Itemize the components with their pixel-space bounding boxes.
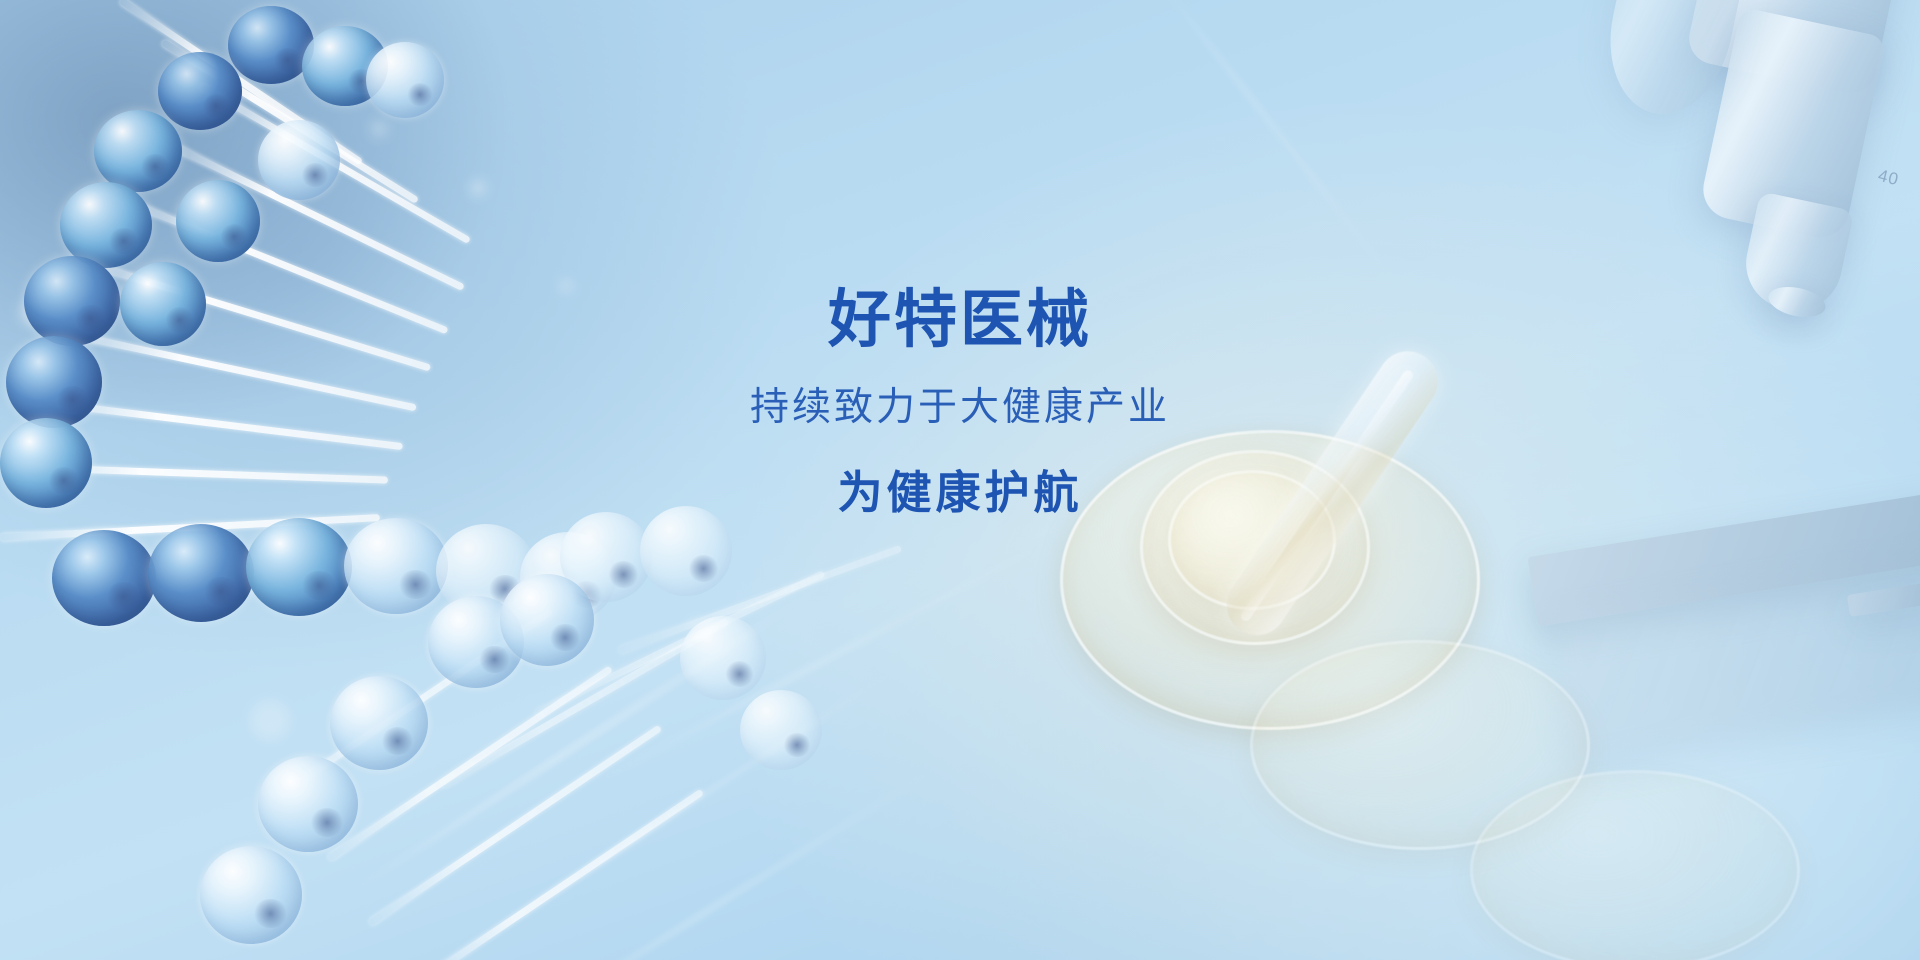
dna-node: [228, 6, 314, 84]
dna-node: [344, 518, 448, 614]
dna-node: [148, 524, 254, 622]
bokeh-dot: [470, 180, 486, 196]
dna-node: [52, 530, 156, 626]
dna-node: [176, 180, 260, 262]
dna-node: [330, 676, 428, 770]
hero-subtitle: 持续致力于大健康产业: [0, 385, 1920, 432]
bokeh-dot: [370, 120, 388, 138]
dna-node: [258, 756, 358, 852]
glass-bowl-right: [1470, 770, 1800, 960]
dna-node: [258, 120, 340, 200]
light-streak: [1139, 0, 1402, 290]
dna-node: [366, 42, 444, 118]
dna-node: [94, 110, 182, 192]
hero-banner: 40: [0, 0, 1920, 960]
dna-rung: [410, 789, 704, 960]
bokeh-dot: [250, 700, 290, 740]
microscope-magnification-label: 40: [1876, 166, 1901, 190]
hero-tagline: 为健康护航: [0, 466, 1920, 520]
light-streak: [424, 668, 897, 960]
page-title: 好特医械: [0, 286, 1920, 355]
dna-node: [500, 574, 594, 666]
dna-node: [158, 52, 242, 130]
dna-node: [200, 846, 302, 944]
dna-node: [246, 518, 352, 616]
hero-text-block: 好特医械 持续致力于大健康产业 为健康护航: [0, 286, 1920, 520]
